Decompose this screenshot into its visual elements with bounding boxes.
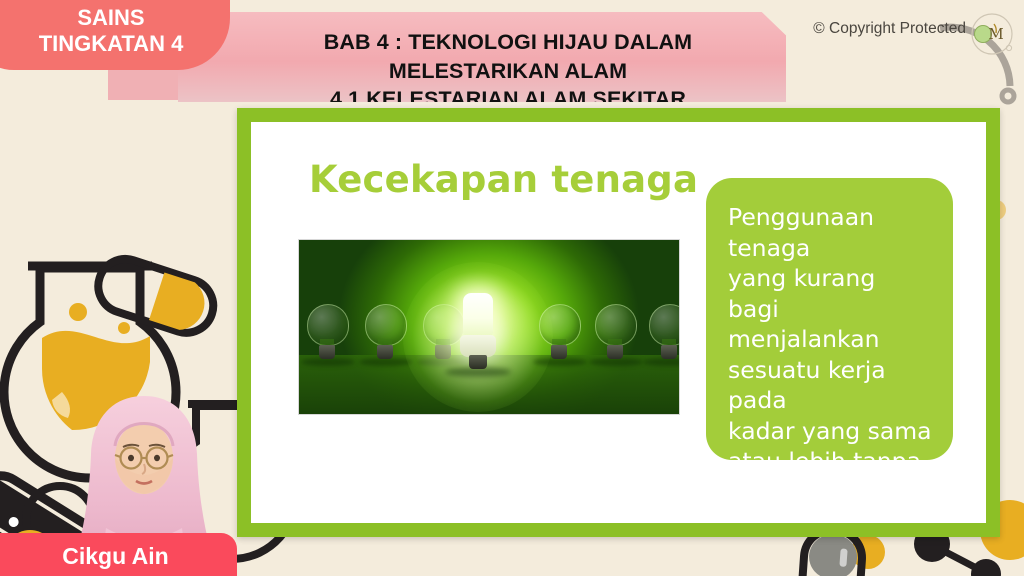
bulb-incandescent-1 (307, 304, 347, 360)
slide-screenshot: Kecekapan tenaga (0, 0, 1024, 576)
bulb-incandescent-2 (365, 304, 405, 360)
bulb-incandescent-5 (595, 304, 635, 360)
copyright-notice: © Copyright Protected (813, 20, 966, 38)
bulb-incandescent-6 (649, 304, 680, 360)
subject-badge: SAINS TINGKATAN 4 (0, 0, 230, 70)
presenter-name: Cikgu Ain (28, 543, 168, 570)
slide-frame: Kecekapan tenaga (237, 108, 1000, 537)
definition-text: Penggunaan tenaga yang kurang bagi menja… (728, 202, 933, 523)
copyright-text: © Copyright Protected (813, 20, 966, 38)
doodle-capsule-small (91, 252, 220, 340)
chapter-title-ribbon: BAB 4 : TEKNOLOGI HIJAU DALAM MELESTARIK… (178, 12, 786, 102)
definition-callout: Penggunaan tenaga yang kurang bagi menja… (706, 178, 953, 460)
bulb-cfl-glowing (455, 291, 501, 369)
copyright-logo-icon: M (970, 12, 1014, 56)
light-bulbs-photo (298, 239, 680, 415)
chapter-title-lines: BAB 4 : TEKNOLOGI HIJAU DALAM MELESTARIK… (238, 28, 778, 114)
presenter-nametag: Cikgu Ain (0, 533, 237, 576)
chapter-title-line-1: BAB 4 : TEKNOLOGI HIJAU DALAM (238, 28, 778, 57)
subject-badge-label: SAINS TINGKATAN 4 (13, 0, 184, 57)
chapter-title-line-2: MELESTARIKAN ALAM (238, 57, 778, 86)
bulb-incandescent-4 (539, 304, 579, 360)
slide-page: Kecekapan tenaga (251, 122, 986, 523)
slide-title: Kecekapan tenaga (309, 158, 698, 201)
